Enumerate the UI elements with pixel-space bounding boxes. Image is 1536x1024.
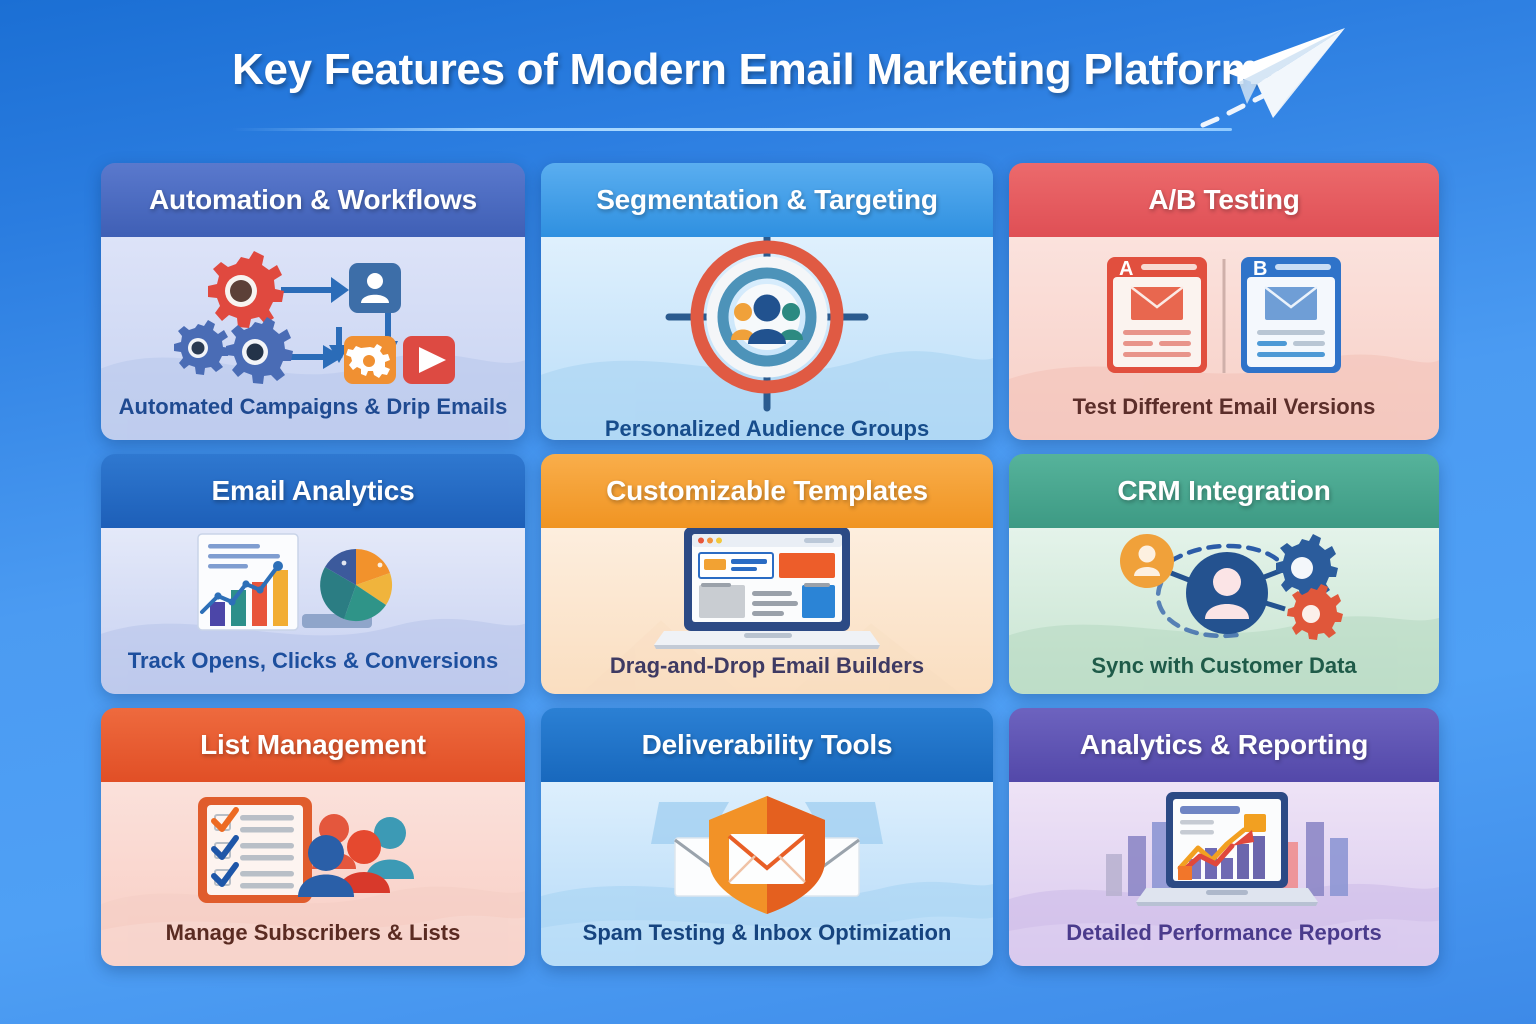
card-title: A/B Testing <box>1009 163 1439 237</box>
settings-node <box>344 336 396 384</box>
paper-plane-icon <box>1195 20 1355 135</box>
card-list-management[interactable]: List Management <box>101 708 525 966</box>
card-caption: Track Opens, Clicks & Conversions <box>101 648 525 694</box>
card-caption: Spam Testing & Inbox Optimization <box>541 920 993 966</box>
variant-a-label: A <box>1119 258 1133 280</box>
card-segmentation-targeting[interactable]: Segmentation & Targeting <box>541 163 993 440</box>
gear-blue <box>1276 534 1338 598</box>
card-title: Deliverability Tools <box>541 708 993 782</box>
variant-b-panel: B <box>1241 257 1341 373</box>
card-title: Email Analytics <box>101 454 525 528</box>
title-underline-rule <box>232 128 1232 131</box>
gears-workflow-icon <box>101 237 525 394</box>
card-body: Manage Subscribers & Lists <box>101 782 525 966</box>
card-title: CRM Integration <box>1009 454 1439 528</box>
play-node <box>403 336 455 384</box>
card-body: Drag-and-Drop Email Builders <box>541 528 993 694</box>
card-title: Customizable Templates <box>541 454 993 528</box>
ab-split-email-icon: A B <box>1009 237 1439 394</box>
card-body: Sync with Customer Data <box>1009 528 1439 694</box>
card-body: Detailed Performance Reports <box>1009 782 1439 966</box>
card-title: List Management <box>101 708 525 782</box>
card-automation-workflows[interactable]: Automation & Workflows <box>101 163 525 440</box>
card-body: Spam Testing & Inbox Optimization <box>541 782 993 966</box>
card-caption: Detailed Performance Reports <box>1009 920 1439 966</box>
card-caption: Manage Subscribers & Lists <box>101 920 525 966</box>
card-caption: Personalized Audience Groups <box>541 416 993 441</box>
card-analytics-reporting[interactable]: Analytics & Reporting <box>1009 708 1439 966</box>
page-title: Key Features of Modern Email Marketing P… <box>232 45 1212 95</box>
card-caption: Automated Campaigns & Drip Emails <box>101 394 525 440</box>
contacts-gears-sync-icon <box>1009 528 1439 653</box>
laptop-template-builder-icon <box>541 528 993 653</box>
feature-card-grid: Automation & Workflows <box>101 163 1439 963</box>
card-title: Automation & Workflows <box>101 163 525 237</box>
contact-node-primary <box>1186 552 1268 634</box>
card-email-analytics[interactable]: Email Analytics <box>101 454 525 694</box>
card-caption: Test Different Email Versions <box>1009 394 1439 440</box>
laptop-growth-chart-icon <box>1009 782 1439 920</box>
card-crm-integration[interactable]: CRM Integration <box>1009 454 1439 694</box>
contact-node-orange <box>1120 534 1174 588</box>
card-body: Automated Campaigns & Drip Emails <box>101 237 525 440</box>
variant-b-label: B <box>1253 258 1267 280</box>
user-node <box>349 263 401 313</box>
card-ab-testing[interactable]: A/B Testing A <box>1009 163 1439 440</box>
bar-chart-pie-chart-icon <box>101 528 525 648</box>
shield-envelope-icon <box>541 782 993 920</box>
card-deliverability-tools[interactable]: Deliverability Tools <box>541 708 993 966</box>
card-body: A B <box>1009 237 1439 440</box>
card-caption: Sync with Customer Data <box>1009 653 1439 694</box>
checklist-people-icon <box>101 782 525 920</box>
variant-a-panel: A <box>1107 257 1207 373</box>
card-body: Track Opens, Clicks & Conversions <box>101 528 525 694</box>
card-title: Segmentation & Targeting <box>541 163 993 237</box>
card-title: Analytics & Reporting <box>1009 708 1439 782</box>
pie-chart <box>320 549 392 621</box>
card-customizable-templates[interactable]: Customizable Templates <box>541 454 993 694</box>
page-header: Key Features of Modern Email Marketing P… <box>0 0 1536 150</box>
target-audience-icon <box>541 237 993 416</box>
gear-orange <box>1287 584 1343 640</box>
card-body: Personalized Audience Groups <box>541 237 993 440</box>
card-caption: Drag-and-Drop Email Builders <box>541 653 993 694</box>
